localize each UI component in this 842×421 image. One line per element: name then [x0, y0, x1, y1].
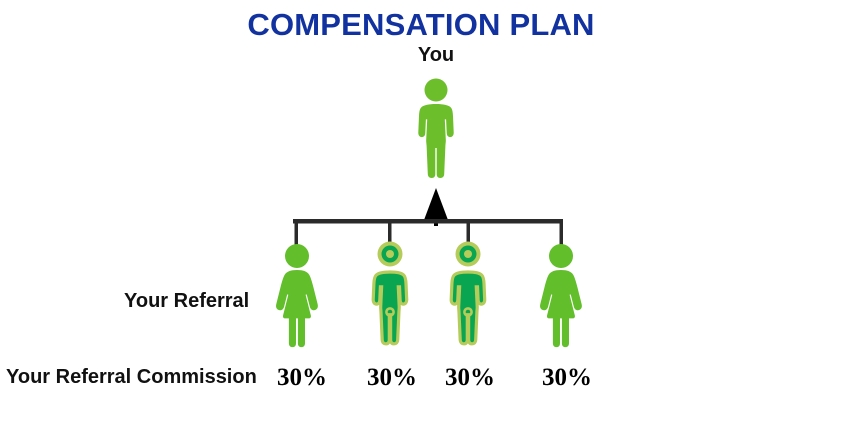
commission-value-4: 30% — [527, 364, 607, 392]
commission-value-3: 30% — [430, 364, 510, 392]
compensation-plan-diagram: COMPENSATION PLAN You Your Referral Your… — [0, 0, 842, 421]
person-male-icon-root — [412, 78, 460, 178]
person-male-icon-3 — [444, 240, 492, 348]
row-label-referral: Your Referral — [124, 290, 249, 313]
horizontal-bracket-icon — [293, 219, 563, 224]
row-label-commission: Your Referral Commission — [6, 366, 257, 389]
person-female-icon-4 — [536, 244, 586, 349]
commission-value-1: 30% — [262, 364, 342, 392]
root-node-label: You — [381, 44, 491, 67]
person-female-icon-1 — [272, 244, 322, 349]
arrow-up-icon — [424, 188, 448, 226]
person-male-icon-2 — [366, 240, 414, 348]
commission-value-2: 30% — [352, 364, 432, 392]
page-title: COMPENSATION PLAN — [0, 7, 842, 43]
